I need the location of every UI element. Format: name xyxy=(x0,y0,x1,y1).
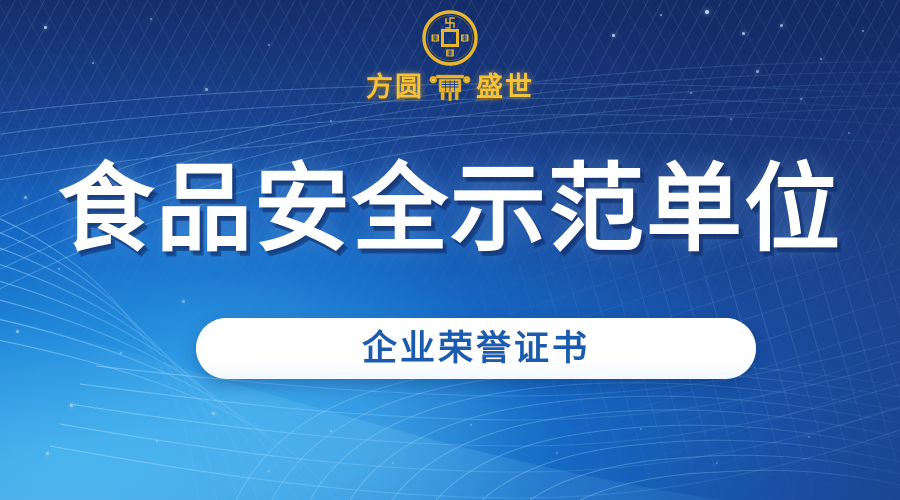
certificate-type-pill[interactable]: 企业荣誉证书 xyxy=(196,318,756,379)
certificate-type-label: 企业荣誉证书 xyxy=(362,331,590,366)
brand-name-left: 方圆 xyxy=(366,74,424,101)
brand-name-right: 盛世 xyxy=(476,74,534,101)
brand-logo: 方圆 xyxy=(0,8,900,104)
page-title: 食品安全示范单位 xyxy=(0,160,900,261)
chinese-coin-icon xyxy=(420,8,480,68)
brand-wordmark: 方圆 xyxy=(366,70,534,104)
ding-vessel-icon xyxy=(428,71,472,103)
certificate-banner: 方圆 xyxy=(0,0,900,500)
